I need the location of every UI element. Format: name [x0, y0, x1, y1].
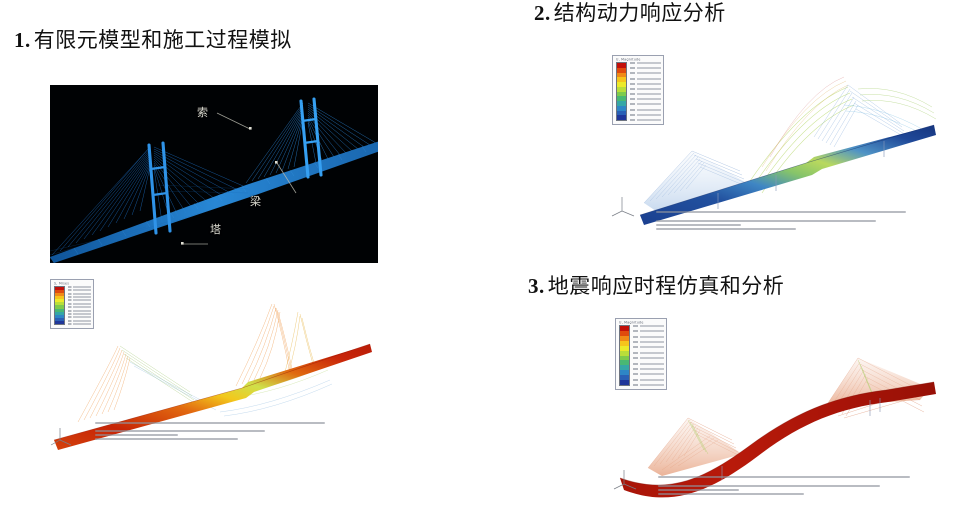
fig1b-viewport-annotation	[95, 422, 325, 440]
callout-cable: 索	[197, 104, 208, 120]
figure-construction-stage-stress-contour: S, Mises	[40, 270, 385, 465]
figure-finite-element-bridge-model: 索 梁 塔	[50, 85, 378, 263]
fig3-legend-values	[633, 325, 664, 386]
section-2-title: 结构动力响应分析	[554, 1, 726, 25]
section-1-heading: 1.有限元模型和施工过程模拟	[14, 29, 292, 52]
fig3-legend: U, Magnitude	[615, 318, 667, 390]
figure-seismic-time-history-deformation: U, Magnitude	[600, 308, 950, 513]
callout-tower: 塔	[210, 221, 221, 237]
figure-structural-dynamic-mode-shape: U, Magnitude	[600, 45, 945, 257]
section-2-number: 2.	[534, 1, 551, 25]
fig2-viewport-annotation	[656, 211, 906, 230]
fig2-legend: U, Magnitude	[612, 55, 664, 125]
document-page: 1.有限元模型和施工过程模拟	[0, 0, 978, 518]
fig1b-color-ramp	[54, 286, 65, 325]
section-3-heading: 3.地震响应时程仿真和分析	[528, 275, 784, 298]
fig2-legend-values	[630, 62, 661, 121]
section-3-number: 3.	[528, 274, 545, 298]
section-1-number: 1.	[14, 28, 31, 52]
callout-girder: 梁	[250, 193, 261, 209]
section-1-title: 有限元模型和施工过程模拟	[34, 28, 292, 52]
fig3-viewport-annotation	[658, 476, 910, 495]
fig1b-legend: S, Mises	[50, 279, 94, 329]
section-2-heading: 2.结构动力响应分析	[534, 2, 726, 25]
fig1b-legend-values	[68, 286, 91, 325]
fig3-color-ramp	[619, 325, 630, 386]
fig2-color-ramp	[616, 62, 627, 121]
section-3-title: 地震响应时程仿真和分析	[548, 274, 785, 298]
